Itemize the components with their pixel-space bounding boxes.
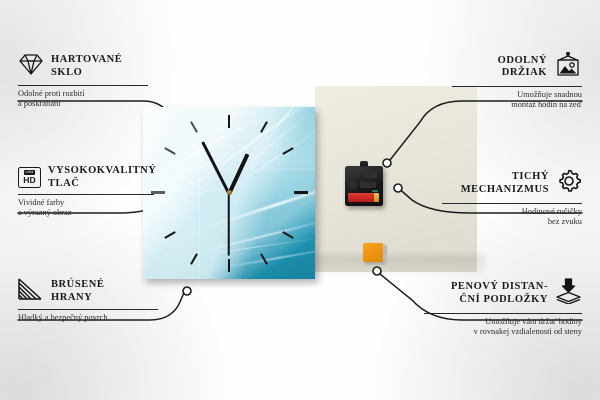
feature-left-3-title: BRÚSENÉHRANY bbox=[51, 279, 104, 304]
leader-node-left-3 bbox=[183, 287, 191, 295]
feature-left-3-rule bbox=[18, 309, 158, 310]
feature-left-2-desc: Vividné farbya výrazný obraz bbox=[18, 198, 154, 219]
leader-node-right-3 bbox=[373, 267, 381, 275]
second-hand bbox=[228, 193, 230, 255]
feature-left-2-title: VYSOKOKVALITNÝTLAČ bbox=[48, 165, 156, 190]
feature-right-2-desc: Hodinové ručičkybez zvuku bbox=[442, 207, 582, 228]
ultra-hd-icon: ultra HD bbox=[18, 167, 41, 188]
product-wall-clock bbox=[143, 107, 315, 279]
feature-right-1: ODOLNÝDRŽIAK Umožňuje snadnoumontáž hodi… bbox=[452, 52, 582, 110]
infographic-canvas: HARTOVANÉSKLO Odolné proti rozbitía pošk… bbox=[0, 0, 600, 400]
picture-frame-hanger-icon bbox=[554, 52, 582, 82]
mechanism-body bbox=[345, 166, 383, 206]
diagonal-hatch-icon bbox=[18, 278, 44, 305]
feature-right-3-desc: Umožňuje vám držať hodinyv rovnakej vzdi… bbox=[424, 317, 582, 338]
clock-mechanism bbox=[345, 166, 383, 206]
feature-left-3: BRÚSENÉHRANY Hladký a bezpečný povrch bbox=[18, 278, 158, 323]
feature-left-1-rule bbox=[18, 85, 148, 86]
feature-left-2-rule bbox=[18, 194, 154, 195]
mechanism-battery bbox=[348, 193, 379, 202]
leader-node-right-2 bbox=[394, 184, 402, 192]
leader-node-right-1 bbox=[383, 159, 391, 167]
hour-marker bbox=[228, 115, 230, 128]
feature-right-1-title: ODOLNÝDRŽIAK bbox=[498, 55, 547, 80]
feature-right-3-title: PENOVÝ DISTAN-ČNÍ PODLOŽKY bbox=[451, 281, 548, 306]
hands-center-cap bbox=[227, 190, 232, 195]
feature-left-1-title: HARTOVANÉSKLO bbox=[51, 54, 122, 79]
feature-right-2: TICHÝMECHANIZMUS Hodinové ručičkybez zvu… bbox=[442, 168, 582, 227]
gear-icon bbox=[556, 168, 582, 199]
press-down-layers-icon bbox=[555, 278, 582, 309]
feature-right-1-desc: Umožňuje snadnoumontáž hodin na zeď bbox=[452, 90, 582, 111]
feature-left-1-desc: Odolné proti rozbitía poškrábání bbox=[18, 89, 148, 110]
feature-left-3-desc: Hladký a bezpečný povrch bbox=[18, 313, 158, 323]
feature-right-3: PENOVÝ DISTAN-ČNÍ PODLOŽKY Umožňuje vám … bbox=[424, 278, 582, 337]
ultra-hd-icon-main-text: HD bbox=[23, 176, 35, 185]
hour-marker bbox=[228, 259, 230, 272]
diamond-icon bbox=[18, 52, 44, 81]
hour-marker bbox=[294, 191, 308, 194]
foam-spacer-pad bbox=[363, 243, 383, 262]
feature-left-2: ultra HD VYSOKOKVALITNÝTLAČ Vividné farb… bbox=[18, 165, 154, 218]
feature-left-1: HARTOVANÉSKLO Odolné proti rozbitía pošk… bbox=[18, 52, 148, 109]
feature-right-3-rule bbox=[424, 313, 582, 314]
feature-right-2-rule bbox=[442, 203, 582, 204]
feature-right-1-rule bbox=[452, 86, 582, 87]
feature-right-2-title: TICHÝMECHANIZMUS bbox=[461, 171, 549, 196]
